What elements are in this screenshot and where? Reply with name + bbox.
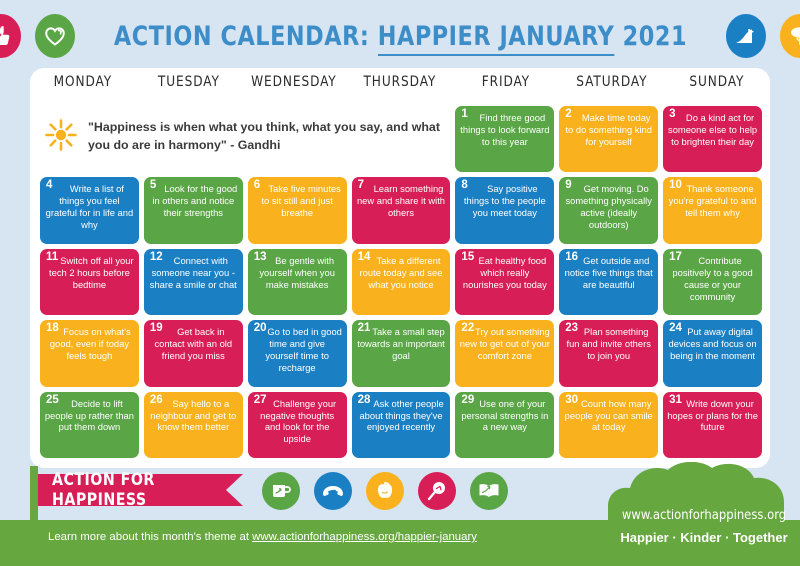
day-action-text: Say positive things to the people you me… (458, 183, 551, 219)
weekday-sunday: SUNDAY (668, 74, 766, 100)
weekday-thursday: THURSDAY (351, 74, 449, 100)
calendar-day-cell[interactable]: 28Ask other people about things they've … (352, 392, 451, 458)
page-title: ACTION CALENDAR: HAPPIER JANUARY 2021 (113, 21, 686, 52)
weekday-wednesday: WEDNESDAY (245, 74, 343, 100)
title-underlined: HAPPIER JANUARY (377, 21, 614, 56)
day-number: 8 (461, 180, 467, 192)
day-number: 24 (669, 323, 682, 335)
day-action-text: Make time today to do something kind for… (562, 112, 655, 148)
brand-name: ACTION FOR HAPPINESS (52, 474, 239, 506)
tree-icon (780, 14, 800, 58)
title-year: 2021 (614, 21, 687, 52)
day-number: 26 (150, 395, 163, 407)
day-number: 4 (46, 180, 52, 192)
day-number: 25 (46, 395, 59, 407)
calendar-day-cell[interactable]: 18Focus on what's good, even if today fe… (40, 320, 139, 386)
learn-more-text: Learn more about this month's theme at w… (48, 531, 477, 543)
book-icon (470, 472, 508, 510)
tagline: Happier · Kinder · Together (608, 530, 800, 545)
weekday-tuesday: TUESDAY (139, 74, 237, 100)
footer-icon-row (262, 470, 522, 512)
calendar-day-cell[interactable]: 16Get outside and notice five things tha… (559, 249, 658, 315)
day-number: 19 (150, 323, 163, 335)
thumbs-up-icon (0, 14, 21, 58)
heart-icon (35, 14, 75, 58)
day-number: 10 (669, 180, 682, 192)
calendar-day-cell[interactable]: 2Make time today to do something kind fo… (559, 106, 658, 172)
calendar-day-cell[interactable]: 19Get back in contact with an old friend… (144, 320, 243, 386)
weekday-header-row: MONDAY TUESDAY WEDNESDAY THURSDAY FRIDAY… (30, 74, 770, 100)
quote-block: "Happiness is when what you think, what … (44, 106, 454, 168)
telephone-icon (314, 472, 352, 510)
calendar-day-cell[interactable]: 5Look for the good in others and notice … (144, 177, 243, 243)
footer-accent-bar (30, 466, 38, 520)
day-number: 16 (565, 252, 578, 264)
sun-icon (44, 118, 78, 157)
day-number: 1 (461, 109, 467, 121)
calendar-day-cell[interactable]: 23Plan something fun and invite others t… (559, 320, 658, 386)
day-number: 15 (461, 252, 474, 264)
learn-more-link[interactable]: www.actionforhappiness.org/happier-janua… (252, 531, 477, 543)
calendar-card: MONDAY TUESDAY WEDNESDAY THURSDAY FRIDAY… (30, 68, 770, 468)
day-number: 12 (150, 252, 163, 264)
calendar-day-cell[interactable]: 24Put away digital devices and focus on … (663, 320, 762, 386)
day-action-text: Find three good things to look forward t… (458, 112, 551, 148)
calendar-day-cell[interactable]: 15Eat healthy food which really nourishe… (455, 249, 554, 315)
magnifier-icon (418, 472, 456, 510)
calendar-day-cell[interactable]: 25Decide to lift people up rather than p… (40, 392, 139, 458)
day-action-text: Take five minutes to sit still and just … (251, 183, 344, 219)
calendar-day-cell[interactable]: 14Take a different route today and see w… (352, 249, 451, 315)
learn-more-prefix: Learn more about this month's theme at (48, 531, 252, 543)
day-number: 13 (254, 252, 267, 264)
day-number: 9 (565, 180, 571, 192)
day-action-text: Learn something new and share it with ot… (355, 183, 448, 219)
day-number: 14 (358, 252, 371, 264)
day-action-text: Get moving. Do something physically acti… (562, 183, 655, 231)
day-number: 29 (461, 395, 474, 407)
day-number: 11 (46, 252, 58, 264)
calendar-day-cell[interactable]: 8Say positive things to the people you m… (455, 177, 554, 243)
day-number: 21 (358, 323, 371, 335)
day-number: 17 (669, 252, 682, 264)
day-number: 20 (254, 323, 267, 335)
quote-text: "Happiness is when what you think, what … (88, 119, 454, 155)
calendar-day-cell[interactable]: 7Learn something new and share it with o… (352, 177, 451, 243)
day-action-text: Write a list of things you feel grateful… (43, 183, 136, 231)
apple-icon (366, 472, 404, 510)
day-number: 5 (150, 180, 156, 192)
calendar-day-cell[interactable]: 10Thank someone you're grateful to and t… (663, 177, 762, 243)
calendar-day-cell[interactable]: 3Do a kind act for someone else to help … (663, 106, 762, 172)
calendar-day-cell[interactable]: 27Challenge your negative thoughts and l… (248, 392, 347, 458)
day-number: 28 (358, 395, 371, 407)
day-number: 2 (565, 109, 571, 121)
calendar-day-cell[interactable]: 11Switch off all your tech 2 hours befor… (40, 249, 139, 315)
day-number: 7 (358, 180, 364, 192)
day-number: 22 (461, 323, 474, 335)
site-url[interactable]: www.actionforhappiness.org (613, 507, 795, 523)
calendar-day-cell[interactable]: 4Write a list of things you feel gratefu… (40, 177, 139, 243)
day-number: 18 (46, 323, 59, 335)
day-number: 6 (254, 180, 260, 192)
calendar-day-cell[interactable]: 6Take five minutes to sit still and just… (248, 177, 347, 243)
weekday-monday: MONDAY (34, 74, 132, 100)
title-prefix: ACTION CALENDAR: (113, 21, 377, 52)
calendar-day-cell[interactable]: 26Say hello to a neighbour and get to kn… (144, 392, 243, 458)
calendar-day-cell[interactable]: 30Count how many people you can smile at… (559, 392, 658, 458)
calendar-day-cell[interactable]: 31Write down your hopes or plans for the… (663, 392, 762, 458)
calendar-day-cell[interactable]: 29Use one of your personal strengths in … (455, 392, 554, 458)
brand-banner: ACTION FOR HAPPINESS (38, 474, 253, 506)
page-header: ACTION CALENDAR: HAPPIER JANUARY 2021 (0, 0, 800, 72)
calendar-day-cell[interactable]: 9Get moving. Do something physically act… (559, 177, 658, 243)
day-number: 30 (565, 395, 578, 407)
calendar-day-cell[interactable]: 13Be gentle with yourself when you make … (248, 249, 347, 315)
day-action-text: Look for the good in others and notice t… (147, 183, 240, 219)
calendar-day-cell[interactable]: 12Connect with someone near you - share … (144, 249, 243, 315)
calendar-day-cell[interactable]: 22Try out something new to get out of yo… (455, 320, 554, 386)
mug-icon (262, 472, 300, 510)
day-action-text: Do a kind act for someone else to help t… (666, 112, 759, 148)
calendar-day-cell[interactable]: 1Find three good things to look forward … (455, 106, 554, 172)
mountain-flag-icon (726, 14, 766, 58)
calendar-day-cell[interactable]: 17Contribute positively to a good cause … (663, 249, 762, 315)
weekday-saturday: SATURDAY (562, 74, 660, 100)
day-number: 27 (254, 395, 267, 407)
calendar-day-cell[interactable]: 21Take a small step towards an important… (352, 320, 451, 386)
day-number: 31 (669, 395, 682, 407)
day-number: 3 (669, 109, 675, 121)
day-number: 23 (565, 323, 578, 335)
calendar-day-cell[interactable]: 20Go to bed in good time and give yourse… (248, 320, 347, 386)
weekday-friday: FRIDAY (457, 74, 555, 100)
